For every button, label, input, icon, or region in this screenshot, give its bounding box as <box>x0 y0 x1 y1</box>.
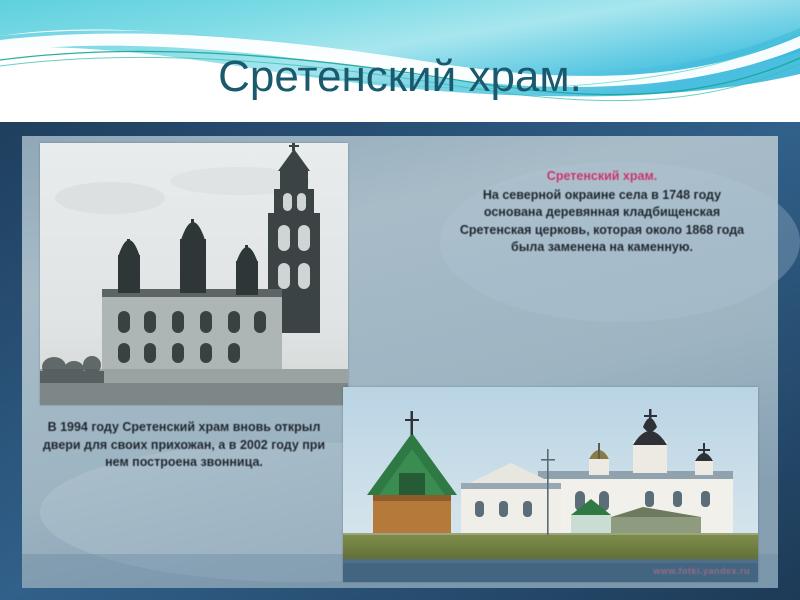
text-block-right-body: На северной окраине села в 1748 году осн… <box>460 188 744 255</box>
text-block-left: В 1994 году Сретенский храм вновь открыл… <box>34 419 334 472</box>
page-title: Сретенский храм. <box>0 52 800 102</box>
historic-church-photo <box>40 143 348 405</box>
text-block-right-heading: Сретенский храм. <box>452 168 752 186</box>
slide-header: Сретенский храм. <box>0 0 800 122</box>
text-block-right: Сретенский храм. На северной окраине сел… <box>452 168 752 257</box>
text-block-left-body: В 1994 году Сретенский храм вновь открыл… <box>43 420 325 469</box>
photo-watermark: www.fotki.yandex.ru <box>653 566 750 576</box>
modern-church-photo: www.fotki.yandex.ru <box>343 387 758 582</box>
content-image-panel: www.fotki.yandex.ru Сретенский храм. На … <box>0 122 800 600</box>
presentation-slide: Сретенский храм. <box>0 0 800 600</box>
